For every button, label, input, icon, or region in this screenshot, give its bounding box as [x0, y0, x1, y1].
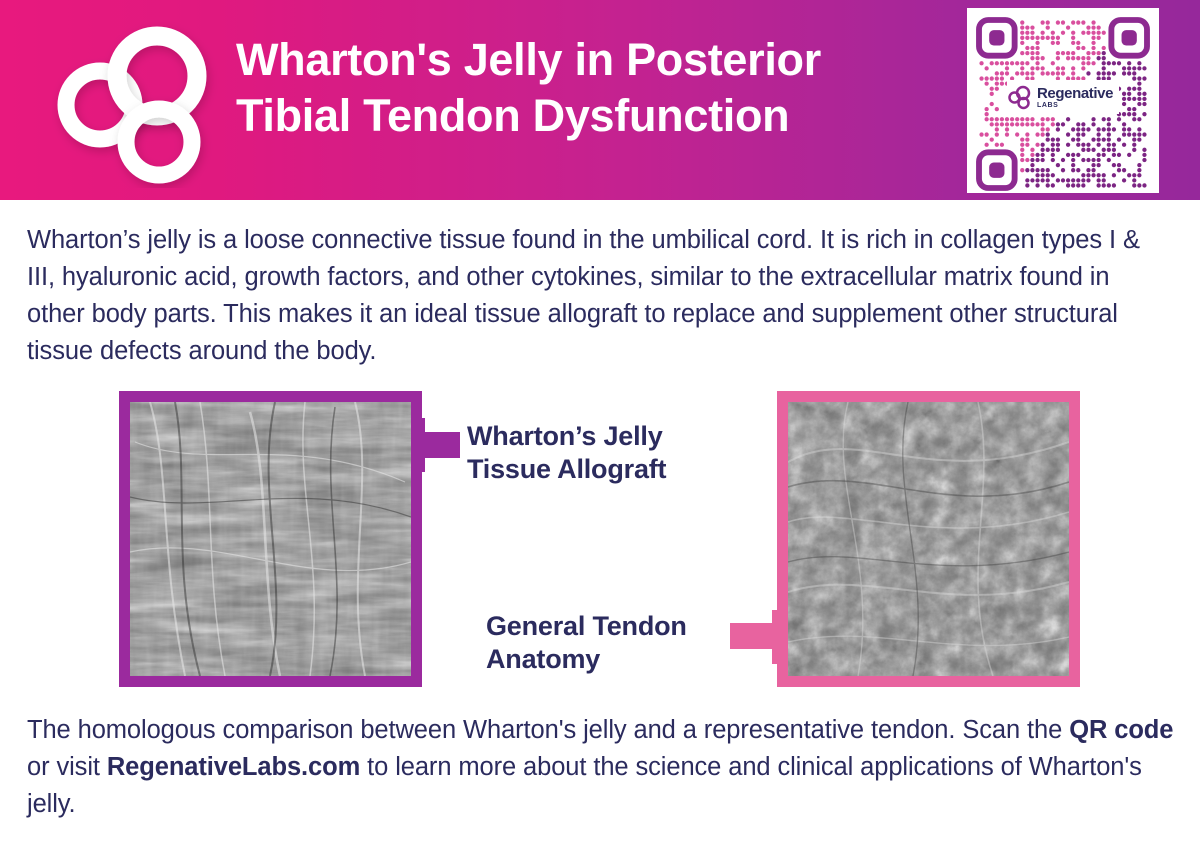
sem-image-whartons-jelly [130, 402, 411, 676]
footer-paragraph: The homologous comparison between Wharto… [27, 712, 1177, 823]
figure-right-label: General Tendon Anatomy [486, 610, 736, 676]
intro-paragraph: Wharton’s jelly is a loose connective ti… [27, 222, 1147, 370]
footer-bold-website[interactable]: RegenativeLabs.com [107, 753, 360, 781]
figure-right-general-tendon [777, 391, 1080, 687]
figure-left-label-line-2: Tissue Allograft [467, 453, 757, 486]
regenative-three-rings-logo-icon [1007, 84, 1033, 110]
qr-center-brand: Regenative LABS [1007, 80, 1119, 114]
sem-image-tendon [788, 402, 1069, 676]
connector-right-vertical [772, 610, 786, 664]
page-title: Wharton's Jelly in Posterior Tibial Tend… [236, 32, 966, 144]
figure-left-label-line-1: Wharton’s Jelly [467, 420, 757, 453]
figure-right-label-line-1: General Tendon [486, 610, 736, 643]
footer-part-1: The homologous comparison between Wharto… [27, 716, 1069, 744]
footer-part-2: or visit [27, 753, 107, 781]
page-title-line-2: Tibial Tendon Dysfunction [236, 88, 966, 144]
qr-code-card[interactable]: Regenative LABS [967, 8, 1159, 193]
figure-comparison-area: Wharton’s Jelly Tissue Allograft [0, 380, 1200, 700]
figure-right-label-line-2: Anatomy [486, 643, 736, 676]
connector-left-horizontal [422, 432, 460, 458]
figure-left-label: Wharton’s Jelly Tissue Allograft [467, 420, 757, 486]
regenative-three-rings-logo-icon [52, 20, 224, 188]
footer-bold-qr-code: QR code [1069, 716, 1173, 744]
figure-left-whartons-jelly [119, 391, 422, 687]
page-title-line-1: Wharton's Jelly in Posterior [236, 32, 966, 88]
qr-brand-name: Regenative [1037, 86, 1113, 101]
qr-brand-sub: LABS [1037, 102, 1113, 109]
connector-right-horizontal [730, 623, 778, 649]
header-banner: Wharton's Jelly in Posterior Tibial Tend… [0, 0, 1200, 200]
